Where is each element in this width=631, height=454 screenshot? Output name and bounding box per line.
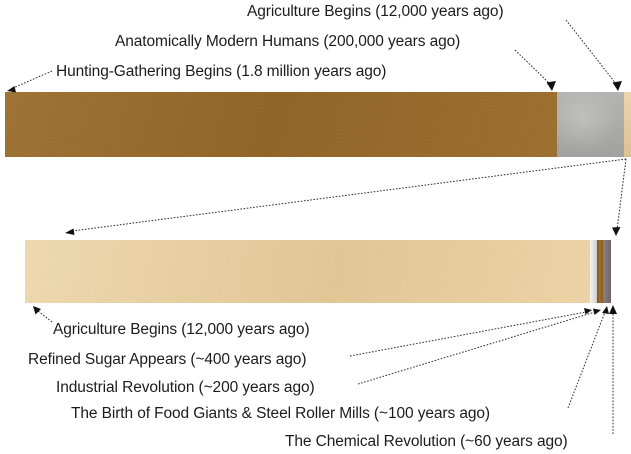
label-chemical-revolution: The Chemical Revolution (~60 years ago) (285, 432, 568, 452)
leader-food-giants-steel-roller-mills (568, 306, 609, 408)
leader-agriculture-begins-top (566, 20, 622, 91)
segment-refined-sugar-era[interactable] (590, 240, 597, 303)
expansion-leader-left (65, 159, 626, 235)
label-industrial-revolution: Industrial Revolution (~200 years ago) (56, 378, 315, 398)
timeline-bar-agriculture-zoom[interactable] (25, 240, 631, 303)
leader-chemical-revolution (609, 305, 617, 434)
label-anatomically-modern-humans: Anatomically Modern Humans (200,000 year… (115, 32, 460, 52)
label-agriculture-begins-top: Agriculture Begins (12,000 years ago) (247, 2, 504, 22)
leader-agriculture-begins-bottom (33, 306, 52, 322)
expansion-leader-right (612, 159, 626, 236)
leader-refined-sugar-appears (350, 308, 592, 356)
segment-agriculture-era[interactable] (624, 92, 631, 157)
segment-hunting-gathering-era[interactable] (5, 92, 557, 157)
label-hunting-gathering-begins: Hunting-Gathering Begins (1.8 million ye… (56, 62, 386, 82)
segment-chemical-revolution-era[interactable] (611, 240, 631, 303)
label-refined-sugar-appears: Refined Sugar Appears (~400 years ago) (28, 350, 306, 370)
segment-food-giants-era[interactable] (603, 240, 611, 303)
leader-hunting-gathering-begins (7, 71, 52, 93)
segment-anatomically-modern-humans-era[interactable] (557, 92, 624, 157)
infographic-canvas: Agriculture Begins (12,000 years ago) An… (0, 0, 631, 454)
timeline-bar-deep-time[interactable] (5, 92, 631, 157)
label-agriculture-begins-bottom: Agriculture Begins (12,000 years ago) (53, 320, 310, 340)
label-food-giants-steel-roller-mills: The Birth of Food Giants & Steel Roller … (71, 404, 490, 424)
segment-pre-refined-sugar-era[interactable] (25, 240, 590, 303)
leader-anatomically-modern-humans (515, 50, 556, 91)
leader-industrial-revolution (358, 309, 601, 385)
